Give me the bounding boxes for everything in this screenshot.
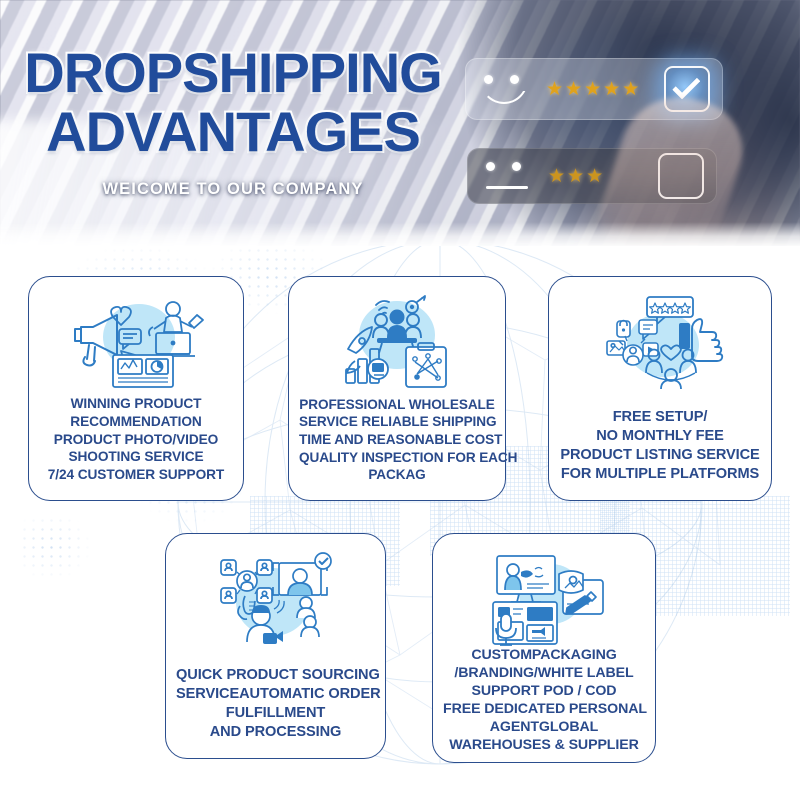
card-line: QUICK PRODUCT SOURCING bbox=[176, 666, 375, 685]
card-line: WINNING PRODUCT bbox=[39, 395, 233, 413]
star-icon: ★ bbox=[584, 80, 601, 99]
card-line: PROFESSIONAL WHOLESALE bbox=[299, 396, 495, 414]
star-icon: ★ bbox=[565, 80, 582, 99]
card-line: SUPPORT POD / COD bbox=[443, 682, 645, 700]
advantage-card-professional-wholesale[interactable]: PROFESSIONAL WHOLESALE SERVICE RELIABLE … bbox=[288, 276, 506, 501]
card-line: FREE SETUP/ bbox=[559, 408, 761, 427]
check-icon bbox=[672, 71, 700, 99]
card-text: WINNING PRODUCT RECOMMENDATION PRODUCT P… bbox=[39, 395, 233, 486]
star-icon: ★ bbox=[622, 80, 639, 99]
card-line: AND PROCESSING bbox=[176, 723, 375, 742]
card-line: WAREHOUSES & SUPPLIER bbox=[443, 736, 645, 754]
card-line: SERVICE RELIABLE SHIPPING bbox=[299, 413, 495, 431]
title-line-1: DROPSHIPPING bbox=[18, 46, 448, 101]
card-line: SERVICEAUTOMATIC ORDER bbox=[176, 685, 375, 704]
team-rocket-chart-clipboard-icon bbox=[322, 293, 472, 389]
smiley-neutral-icon bbox=[480, 156, 538, 196]
card-line: FULFILLMENT bbox=[176, 704, 375, 723]
smiley-happy-icon bbox=[478, 69, 536, 109]
card-line: QUALITY INSPECTION FOR EACH bbox=[299, 449, 495, 467]
card-line: RECOMMENDATION bbox=[39, 413, 233, 431]
card-text: PROFESSIONAL WHOLESALE SERVICE RELIABLE … bbox=[299, 396, 495, 486]
network-people-screen-icon bbox=[201, 550, 351, 646]
card-line: NO MONTHLY FEE bbox=[559, 427, 761, 446]
advantage-card-custom-packaging[interactable]: CUSTOMPACKAGING /BRANDING/WHITE LABEL SU… bbox=[432, 533, 656, 763]
header-fade-overlay bbox=[0, 222, 800, 248]
star-icon: ★ bbox=[567, 167, 584, 186]
star-icon: ★ bbox=[603, 80, 620, 99]
megaphone-laptop-dashboard-icon bbox=[61, 293, 211, 389]
subtitle: WEICOME TO OUR COMPANY bbox=[18, 180, 448, 199]
five-star-rating[interactable]: ★ ★ ★ ★ ★ bbox=[546, 80, 664, 99]
star-icon: ★ bbox=[546, 80, 563, 99]
three-star-rating[interactable]: ★ ★ ★ bbox=[548, 167, 658, 186]
neutral-rating-widget[interactable]: ★ ★ ★ bbox=[467, 148, 717, 204]
thumbs-up-reviews-social-icon bbox=[585, 293, 735, 389]
card-text: QUICK PRODUCT SOURCING SERVICEAUTOMATIC … bbox=[176, 666, 375, 744]
card-text: CUSTOMPACKAGING /BRANDING/WHITE LABEL SU… bbox=[443, 646, 645, 756]
advantage-card-quick-sourcing[interactable]: QUICK PRODUCT SOURCING SERVICEAUTOMATIC … bbox=[165, 533, 386, 759]
card-line: FOR MULTIPLE PLATFORMS bbox=[559, 465, 761, 484]
card-line: AGENTGLOBAL bbox=[443, 718, 645, 736]
card-line: FREE DEDICATED PERSONAL bbox=[443, 700, 645, 718]
title-line-2: ADVANTAGES bbox=[18, 105, 448, 160]
dropshipping-advantages-poster: ★ ★ ★ ★ ★ ★ ★ ★ D bbox=[0, 0, 800, 800]
star-icon: ★ bbox=[586, 167, 603, 186]
card-line: PACKAG bbox=[299, 466, 495, 484]
header-banner: ★ ★ ★ ★ ★ ★ ★ ★ D bbox=[0, 0, 800, 248]
branding-monitor-design-icon bbox=[469, 550, 619, 646]
card-line: TIME AND REASONABLE COST bbox=[299, 431, 495, 449]
checkbox-checked[interactable] bbox=[664, 66, 710, 112]
page-title: DROPSHIPPING ADVANTAGES WEICOME TO OUR C… bbox=[18, 46, 448, 199]
card-line: PRODUCT PHOTO/VIDEO bbox=[39, 431, 233, 449]
card-line: SHOOTING SERVICE bbox=[39, 448, 233, 466]
positive-rating-widget[interactable]: ★ ★ ★ ★ ★ bbox=[465, 58, 723, 120]
card-line: /BRANDING/WHITE LABEL bbox=[443, 664, 645, 682]
advantage-card-winning-product[interactable]: WINNING PRODUCT RECOMMENDATION PRODUCT P… bbox=[28, 276, 244, 501]
advantage-card-free-setup[interactable]: FREE SETUP/ NO MONTHLY FEE PRODUCT LISTI… bbox=[548, 276, 772, 501]
card-line: PRODUCT LISTING SERVICE bbox=[559, 446, 761, 465]
card-line: 7/24 CUSTOMER SUPPORT bbox=[39, 466, 233, 484]
star-icon: ★ bbox=[548, 167, 565, 186]
card-text: FREE SETUP/ NO MONTHLY FEE PRODUCT LISTI… bbox=[559, 408, 761, 486]
checkbox-unchecked[interactable] bbox=[658, 153, 704, 199]
